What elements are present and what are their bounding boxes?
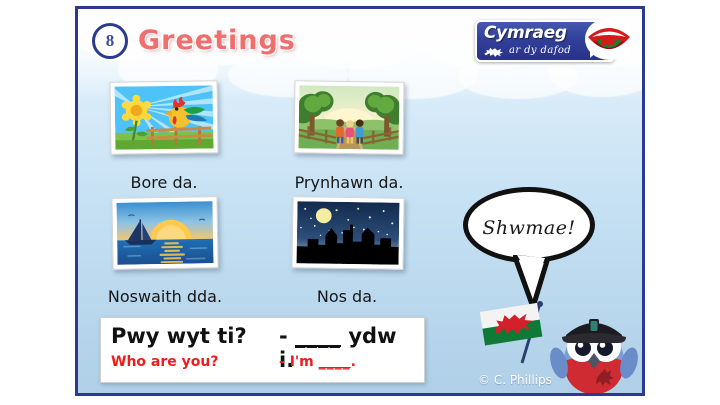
welsh-question: Pwy wyt ti? <box>111 324 247 348</box>
welsh-answer-prefix: - <box>279 324 288 348</box>
photo-card-bore-da[interactable] <box>109 80 218 155</box>
logo-wordmark: Cymraeg <box>484 23 567 43</box>
caption-prynhawn-da: Prynhawn da. <box>288 173 410 192</box>
caption-nos-da: Nos da. <box>286 287 408 306</box>
city-skyline-night-image <box>297 201 400 265</box>
photo-card-nos-da[interactable] <box>291 196 404 270</box>
speech-bubble-text: Shwmae! <box>468 217 590 239</box>
children-path-afternoon-image <box>299 85 400 149</box>
speech-bubble: Shwmae! <box>463 187 595 263</box>
phrase-row-welsh: Pwy wyt ti? - ____ ydw i. <box>111 324 416 350</box>
rooster-sunrise-image <box>115 85 214 149</box>
photo-card-noswaith-dda[interactable] <box>111 196 218 270</box>
welsh-answer-blank: ____ <box>295 324 341 348</box>
caption-bore-da: Bore da. <box>108 173 220 192</box>
phrase-box: Pwy wyt ti? - ____ ydw i. Who are you? -… <box>100 317 425 383</box>
slide-number-badge: 8 <box>92 23 128 59</box>
english-question: Who are you? <box>111 354 218 370</box>
phrase-row-english: Who are you? - I'm ____. <box>111 354 416 376</box>
cymraeg-logo[interactable]: Cymraeg ar dy dafod <box>475 17 630 63</box>
copyright-text: © C. Phillips <box>478 373 552 387</box>
sailboat-sunset-image <box>116 201 213 265</box>
english-answer-prefix: - <box>279 354 285 370</box>
page-title: Greetings <box>138 25 296 56</box>
screenshot-root: 8 Greetings Cymraeg ar dy dafod <box>0 0 720 405</box>
photo-card-prynhawn-da[interactable] <box>293 80 404 155</box>
owl-police-mascot <box>546 299 642 396</box>
english-answer-blank: ____ <box>319 354 351 370</box>
welsh-flag-icon <box>478 301 556 365</box>
mouth-with-welsh-flag-tongue-icon <box>584 17 634 61</box>
caption-noswaith-dda: Noswaith dda. <box>102 287 228 306</box>
logo-subtitle: ar dy dafod <box>509 45 571 56</box>
welsh-dragon-icon <box>483 44 505 58</box>
english-answer-text: I'm <box>290 354 314 370</box>
english-answer: - I'm ____. <box>279 354 356 370</box>
english-answer-end: . <box>351 354 356 370</box>
slide-canvas: 8 Greetings Cymraeg ar dy dafod <box>75 6 645 396</box>
